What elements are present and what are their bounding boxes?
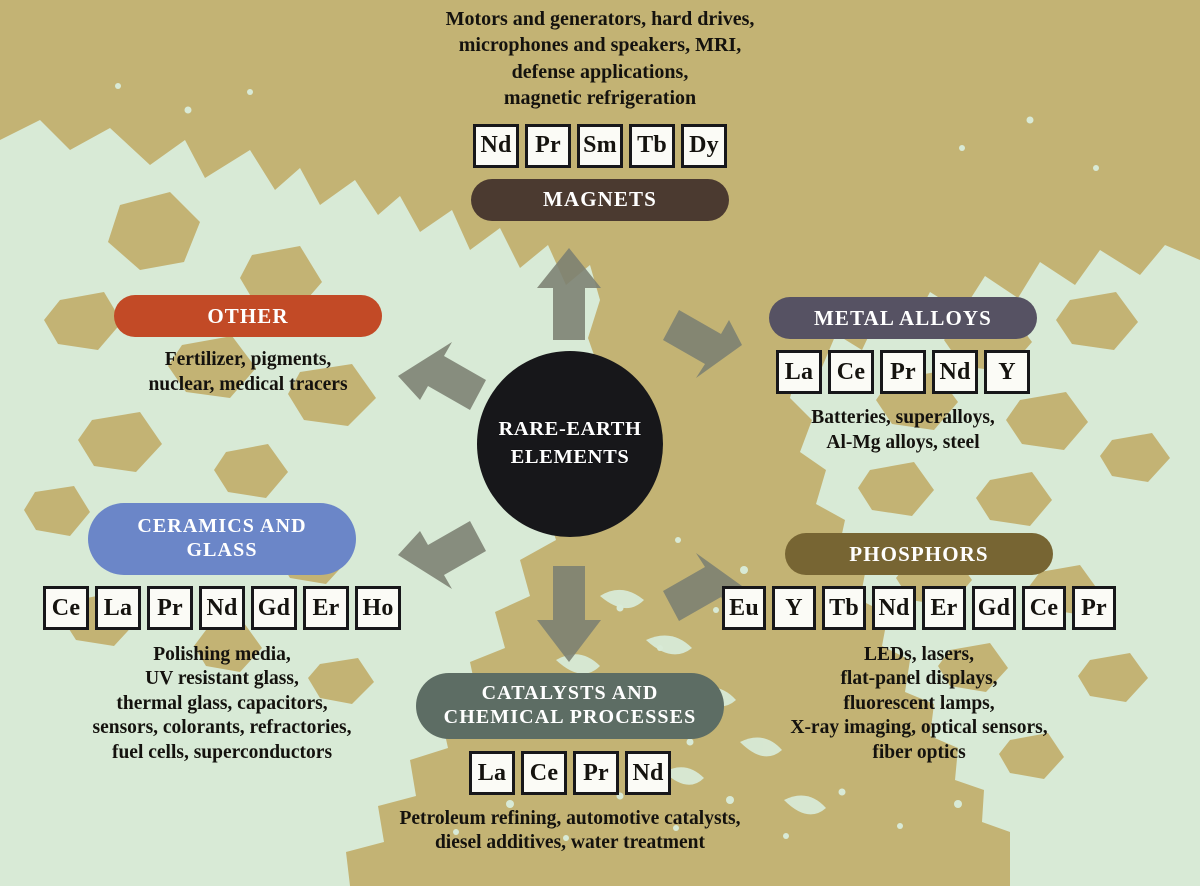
category-label-ceramics-and-glass[interactable]: CERAMICS AND GLASS: [88, 503, 356, 575]
category-label-magnets[interactable]: MAGNETS: [471, 179, 729, 221]
ceramics-and-glass-elements: Ce La Pr Nd Gd Er Ho: [43, 586, 401, 630]
element-chip[interactable]: Sm: [577, 124, 623, 168]
arrow-to-catalysts-icon: [537, 566, 601, 662]
metal-alloys-uses: Batteries, superalloys, Al-Mg alloys, st…: [811, 405, 995, 456]
element-chip[interactable]: Ce: [521, 751, 567, 795]
element-chip[interactable]: La: [469, 751, 515, 795]
element-chip[interactable]: Nd: [199, 586, 245, 630]
center-hub-line-1: RARE-EARTH: [498, 416, 641, 444]
category-label-metal-alloys[interactable]: METAL ALLOYS: [769, 297, 1037, 339]
element-chip[interactable]: Nd: [932, 350, 978, 394]
ceramics-and-glass-uses: Polishing media, UV resistant glass, the…: [92, 643, 351, 765]
arrow-to-ceramics-icon: [398, 521, 486, 589]
element-chip[interactable]: Pr: [147, 586, 193, 630]
element-chip[interactable]: Ce: [828, 350, 874, 394]
element-chip[interactable]: Ce: [1022, 586, 1066, 630]
group-other: OTHER Fertilizer, pigments, nuclear, med…: [113, 295, 383, 398]
element-chip[interactable]: Tb: [822, 586, 866, 630]
center-hub: RARE-EARTH ELEMENTS: [477, 351, 663, 537]
magnets-elements: Nd Pr Sm Tb Dy: [473, 124, 727, 168]
magnets-uses: Motors and generators, hard drives, micr…: [446, 6, 755, 112]
group-catalysts-and-chemical-processes: CATALYSTS AND CHEMICAL PROCESSES La Ce P…: [330, 673, 810, 856]
arrow-to-metal-alloys-icon: [663, 310, 742, 378]
element-chip[interactable]: Nd: [625, 751, 671, 795]
element-chip[interactable]: La: [776, 350, 822, 394]
element-chip[interactable]: Pr: [573, 751, 619, 795]
element-chip[interactable]: Pr: [1072, 586, 1116, 630]
element-chip[interactable]: Y: [772, 586, 816, 630]
element-chip[interactable]: Gd: [251, 586, 297, 630]
other-uses: Fertilizer, pigments, nuclear, medical t…: [148, 347, 347, 398]
infographic-canvas: RARE-EARTH ELEMENTS Motors and generator…: [0, 0, 1200, 886]
category-label-phosphors[interactable]: PHOSPHORS: [785, 533, 1053, 575]
element-chip[interactable]: Eu: [722, 586, 766, 630]
element-chip[interactable]: Y: [984, 350, 1030, 394]
element-chip[interactable]: Ce: [43, 586, 89, 630]
catalysts-elements: La Ce Pr Nd: [469, 751, 671, 795]
element-chip[interactable]: Er: [303, 586, 349, 630]
element-chip[interactable]: Nd: [872, 586, 916, 630]
element-chip[interactable]: La: [95, 586, 141, 630]
element-chip[interactable]: Pr: [525, 124, 571, 168]
element-chip[interactable]: Gd: [972, 586, 1016, 630]
arrow-to-magnets-icon: [537, 248, 601, 340]
catalysts-uses: Petroleum refining, automotive catalysts…: [399, 807, 740, 856]
arrow-to-other-icon: [398, 342, 486, 410]
category-label-other[interactable]: OTHER: [114, 295, 382, 337]
category-label-catalysts-and-chemical-processes[interactable]: CATALYSTS AND CHEMICAL PROCESSES: [416, 673, 724, 739]
element-chip[interactable]: Tb: [629, 124, 675, 168]
group-metal-alloys: METAL ALLOYS La Ce Pr Nd Y Batteries, su…: [768, 297, 1038, 456]
metal-alloys-elements: La Ce Pr Nd Y: [776, 350, 1030, 394]
phosphors-uses: LEDs, lasers, flat-panel displays, fluor…: [790, 643, 1047, 765]
group-magnets: Motors and generators, hard drives, micr…: [370, 6, 830, 221]
element-chip[interactable]: Dy: [681, 124, 727, 168]
phosphors-elements: Eu Y Tb Nd Er Gd Ce Pr: [722, 586, 1116, 630]
element-chip[interactable]: Ho: [355, 586, 401, 630]
element-chip[interactable]: Nd: [473, 124, 519, 168]
element-chip[interactable]: Pr: [880, 350, 926, 394]
element-chip[interactable]: Er: [922, 586, 966, 630]
center-hub-line-2: ELEMENTS: [511, 444, 630, 472]
